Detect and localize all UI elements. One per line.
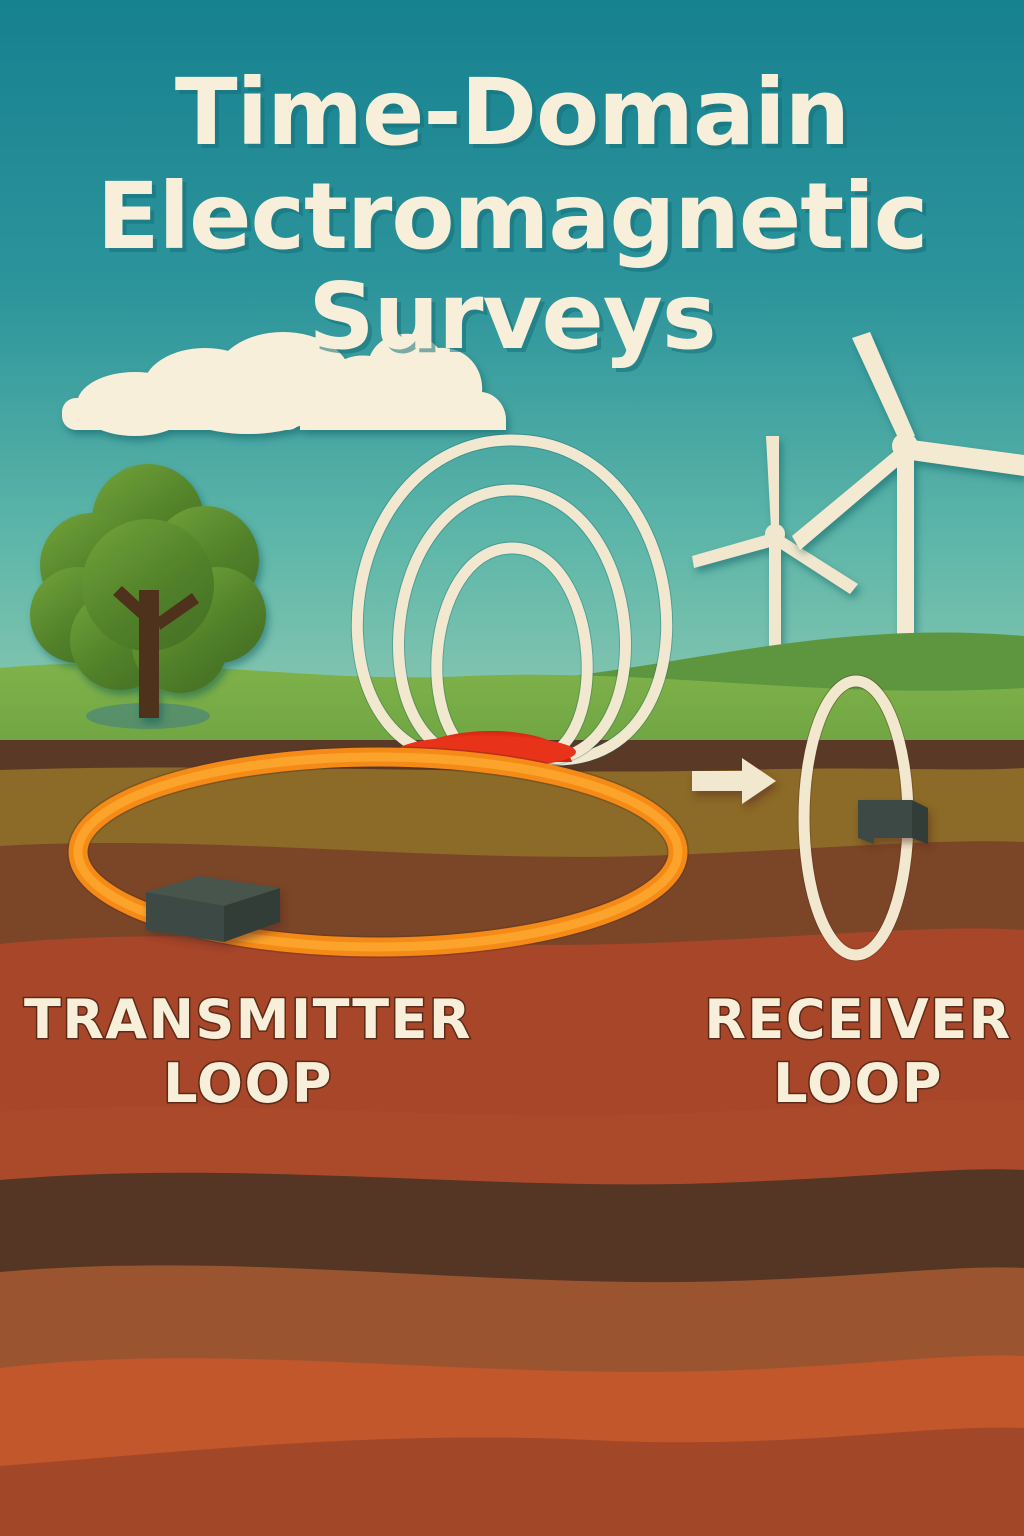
title-line-3: Surveys: [308, 263, 715, 370]
infographic-poster: Time-Domain Time-Domain Electromagnetic …: [0, 0, 1024, 1536]
title-line-2: Electromagnetic: [97, 163, 928, 270]
receiver-device-box: [858, 800, 928, 844]
receiver-label-line-2: LOOP: [773, 1052, 943, 1115]
transmitter-label-line-1: TRANSMITTER: [24, 988, 472, 1051]
soil-strata: [0, 740, 1024, 1536]
transmitter-label-line-2: LOOP: [163, 1052, 333, 1115]
title-line-1: Time-Domain: [175, 59, 849, 166]
receiver-label-line-1: RECEIVER: [704, 988, 1011, 1051]
